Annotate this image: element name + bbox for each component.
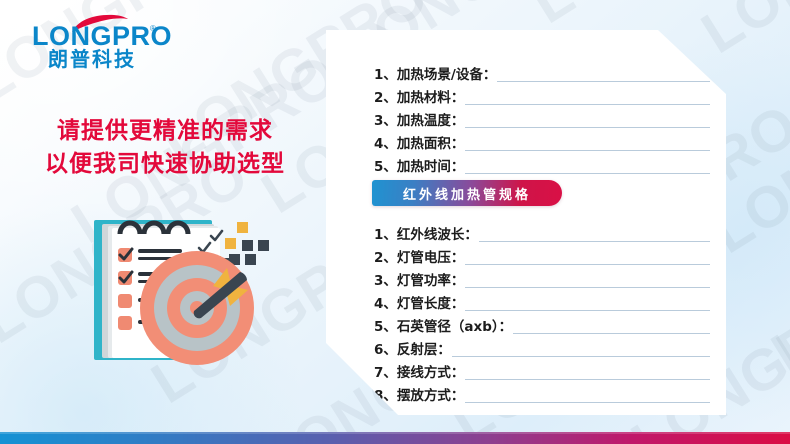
form-field-row[interactable]: 5、加热时间： bbox=[374, 154, 710, 176]
field-input-rule[interactable] bbox=[479, 240, 710, 242]
field-input-rule[interactable] bbox=[465, 103, 710, 105]
section-banner: 红外线加热管规格 bbox=[372, 180, 562, 206]
checklist-target-illustration bbox=[70, 198, 320, 398]
field-label: 3、灯管功率： bbox=[374, 275, 464, 291]
field-input-rule[interactable] bbox=[513, 332, 710, 334]
target-icon bbox=[140, 251, 254, 365]
field-label: 6、反射层： bbox=[374, 344, 451, 360]
watermark-text: LONGPRO bbox=[690, 0, 790, 67]
form-field-row[interactable]: 4、加热面积： bbox=[374, 131, 710, 153]
field-label: 5、加热时间： bbox=[374, 161, 464, 177]
field-input-rule[interactable] bbox=[465, 172, 710, 174]
form-field-row[interactable]: 5、石英管径（axb）： bbox=[374, 314, 710, 336]
form-field-row[interactable]: 2、加热材料： bbox=[374, 85, 710, 107]
page-title: 请提供更精准的需求 以便我司快速协助选型 bbox=[0, 114, 330, 179]
watermark-text: LONGPRO bbox=[760, 171, 790, 387]
form-field-row[interactable]: 4、灯管长度： bbox=[374, 291, 710, 313]
form-fields-container: 1、加热场景/设备： 2、加热材料： 3、加热温度： 4、加热面积： 5、加热时… bbox=[326, 30, 726, 415]
field-label: 5、石英管径（axb）： bbox=[374, 321, 512, 337]
form-field-row[interactable]: 1、红外线波长： bbox=[374, 222, 710, 244]
form-field-row[interactable]: 2、灯管电压： bbox=[374, 245, 710, 267]
field-input-rule[interactable] bbox=[465, 263, 710, 265]
form-field-row[interactable]: 3、加热温度： bbox=[374, 108, 710, 130]
form-field-row[interactable]: 1、加热场景/设备： bbox=[374, 62, 710, 84]
field-label: 4、加热面积： bbox=[374, 138, 464, 154]
field-input-rule[interactable] bbox=[465, 309, 710, 311]
page-title-line1: 请提供更精准的需求 bbox=[0, 114, 330, 147]
form-field-row[interactable]: 3、灯管功率： bbox=[374, 268, 710, 290]
form-field-row[interactable]: 8、摆放方式： bbox=[374, 383, 710, 405]
field-input-rule[interactable] bbox=[452, 355, 710, 357]
page-title-line2: 以便我司快速协助选型 bbox=[0, 147, 330, 180]
slide-canvas: LONGPROLONGPROLONGPROLONGPROLONGPROLONGP… bbox=[0, 0, 790, 444]
field-label: 8、摆放方式： bbox=[374, 390, 464, 406]
brand-logo: LONGPRO ® 朗普科技 bbox=[24, 12, 174, 74]
footer-bar-highlight bbox=[0, 432, 790, 434]
logo-registered-mark: ® bbox=[150, 24, 156, 33]
field-input-rule[interactable] bbox=[465, 401, 710, 403]
field-input-rule[interactable] bbox=[465, 126, 710, 128]
field-input-rule[interactable] bbox=[497, 80, 710, 82]
form-paper-card: 1、加热场景/设备： 2、加热材料： 3、加热温度： 4、加热面积： 5、加热时… bbox=[326, 30, 726, 415]
form-field-row[interactable]: 7、接线方式： bbox=[374, 360, 710, 382]
form-field-row[interactable]: 6、反射层： bbox=[374, 337, 710, 359]
field-input-rule[interactable] bbox=[465, 378, 710, 380]
field-input-rule[interactable] bbox=[465, 286, 710, 288]
field-label: 4、灯管长度： bbox=[374, 298, 464, 314]
logo-text-cn: 朗普科技 bbox=[48, 50, 136, 70]
field-label: 3、加热温度： bbox=[374, 115, 464, 131]
field-label: 1、红外线波长： bbox=[374, 229, 478, 245]
field-label: 2、灯管电压： bbox=[374, 252, 464, 268]
field-input-rule[interactable] bbox=[465, 149, 710, 151]
field-label: 1、加热场景/设备： bbox=[374, 69, 496, 85]
footer-gradient-bar bbox=[0, 432, 790, 444]
section-banner-label: 红外线加热管规格 bbox=[403, 184, 531, 203]
field-label: 7、接线方式： bbox=[374, 367, 464, 383]
field-label: 2、加热材料： bbox=[374, 92, 464, 108]
